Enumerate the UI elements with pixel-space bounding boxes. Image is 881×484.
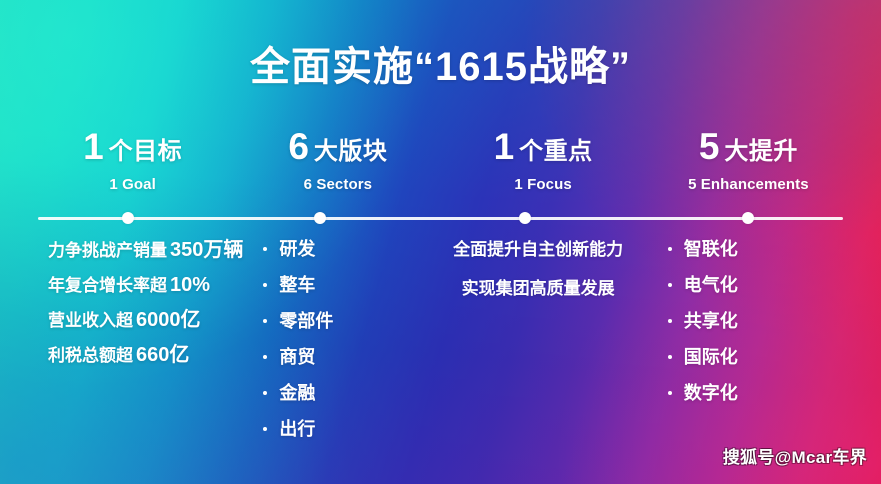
divider-node-3 — [519, 212, 531, 224]
column-bodies-row: 力争挑战产销量350万辆 年复合增长率超10% 营业收入超6000亿 利税总额超… — [30, 240, 851, 456]
list-item-label: 数字化 — [684, 383, 738, 403]
goal-line-value: 350万辆 — [170, 239, 243, 261]
list-item: 零部件 — [263, 312, 446, 330]
goal-line-value: 6000亿 — [136, 309, 201, 331]
column-cn-label: 大版块 — [314, 140, 388, 164]
bullet-icon — [263, 391, 267, 395]
bullet-icon — [263, 247, 267, 251]
list-item-label: 商贸 — [279, 347, 315, 367]
list-item: 金融 — [263, 384, 446, 402]
goal-line-text: 营业收入超 — [48, 311, 133, 330]
list-item-label: 国际化 — [684, 347, 738, 367]
goal-line-value: 660亿 — [136, 344, 189, 366]
list-item: 电气化 — [668, 276, 851, 294]
timeline-divider — [38, 211, 843, 225]
column-body-goal: 力争挑战产销量350万辆 年复合增长率超10% 营业收入超6000亿 利税总额超… — [30, 240, 243, 380]
page-title: 全面实施“1615战略” — [0, 44, 881, 90]
column-number: 1 — [83, 128, 104, 165]
column-headers-row: 1 个目标 1 Goal 6 大版块 6 Sectors 1 个重点 1 Foc… — [30, 128, 851, 193]
column-header-focus: 1 个重点 1 Focus — [441, 128, 646, 193]
column-header-main: 6 大版块 — [235, 128, 440, 165]
list-item-label: 金融 — [279, 383, 315, 403]
column-number: 6 — [288, 128, 309, 165]
list-item: 国际化 — [668, 348, 851, 366]
goal-line: 营业收入超6000亿 — [48, 310, 243, 330]
column-body-sectors: 研发 整车 零部件 商贸 金融 出行 — [243, 240, 446, 456]
list-item: 智联化 — [668, 240, 851, 258]
column-number: 5 — [699, 128, 720, 165]
list-item-label: 整车 — [279, 275, 315, 295]
column-number: 1 — [494, 128, 515, 165]
divider-node-2 — [314, 212, 326, 224]
column-body-focus: 全面提升自主创新能力 实现集团高质量发展 — [447, 240, 630, 319]
bullet-icon — [668, 283, 672, 287]
goal-line: 年复合增长率超10% — [48, 275, 243, 295]
list-item: 数字化 — [668, 384, 851, 402]
column-header-sectors: 6 大版块 6 Sectors — [235, 128, 440, 193]
divider-line — [38, 217, 843, 220]
bullet-icon — [263, 283, 267, 287]
column-en-label: 1 Focus — [441, 176, 646, 193]
column-header-main: 5 大提升 — [646, 128, 851, 165]
enhancement-list: 智联化 电气化 共享化 国际化 数字化 — [668, 240, 851, 402]
goal-line-value: 10% — [170, 274, 210, 296]
column-en-label: 6 Sectors — [235, 176, 440, 193]
list-item: 商贸 — [263, 348, 446, 366]
list-item-label: 电气化 — [684, 275, 738, 295]
bullet-icon — [263, 427, 267, 431]
column-en-label: 5 Enhancements — [646, 176, 851, 193]
bullet-icon — [263, 319, 267, 323]
column-cn-label: 个重点 — [519, 140, 593, 164]
bullet-icon — [668, 247, 672, 251]
goal-line-text: 力争挑战产销量 — [48, 241, 167, 260]
list-item-label: 共享化 — [684, 311, 738, 331]
divider-node-4 — [742, 212, 754, 224]
list-item-label: 研发 — [279, 239, 315, 259]
list-item-label: 零部件 — [279, 311, 333, 331]
bullet-icon — [263, 355, 267, 359]
column-body-enhancements: 智联化 电气化 共享化 国际化 数字化 — [630, 240, 851, 420]
bullet-icon — [668, 391, 672, 395]
infographic-slide: 全面实施“1615战略” 1 个目标 1 Goal 6 大版块 6 Sector… — [0, 0, 881, 484]
bullet-icon — [668, 319, 672, 323]
list-item-label: 出行 — [279, 419, 315, 439]
bullet-icon — [668, 355, 672, 359]
list-item: 整车 — [263, 276, 446, 294]
column-header-goal: 1 个目标 1 Goal — [30, 128, 235, 193]
column-header-enhancements: 5 大提升 5 Enhancements — [646, 128, 851, 193]
column-cn-label: 大提升 — [724, 140, 798, 164]
list-item: 研发 — [263, 240, 446, 258]
column-header-main: 1 个重点 — [441, 128, 646, 165]
goal-line-text: 年复合增长率超 — [48, 276, 167, 295]
list-item: 出行 — [263, 420, 446, 438]
sector-list: 研发 整车 零部件 商贸 金融 出行 — [263, 240, 446, 438]
column-cn-label: 个目标 — [109, 140, 183, 164]
goal-line-text: 利税总额超 — [48, 346, 133, 365]
goal-line: 力争挑战产销量350万辆 — [48, 240, 243, 260]
list-item-label: 智联化 — [684, 239, 738, 259]
divider-node-1 — [122, 212, 134, 224]
column-en-label: 1 Goal — [30, 176, 235, 193]
goal-line: 利税总额超660亿 — [48, 345, 243, 365]
focus-line: 全面提升自主创新能力 — [447, 241, 630, 258]
list-item: 共享化 — [668, 312, 851, 330]
watermark: 搜狐号@Mcar车界 — [723, 443, 867, 468]
focus-line: 实现集团高质量发展 — [447, 280, 630, 297]
column-header-main: 1 个目标 — [30, 128, 235, 165]
